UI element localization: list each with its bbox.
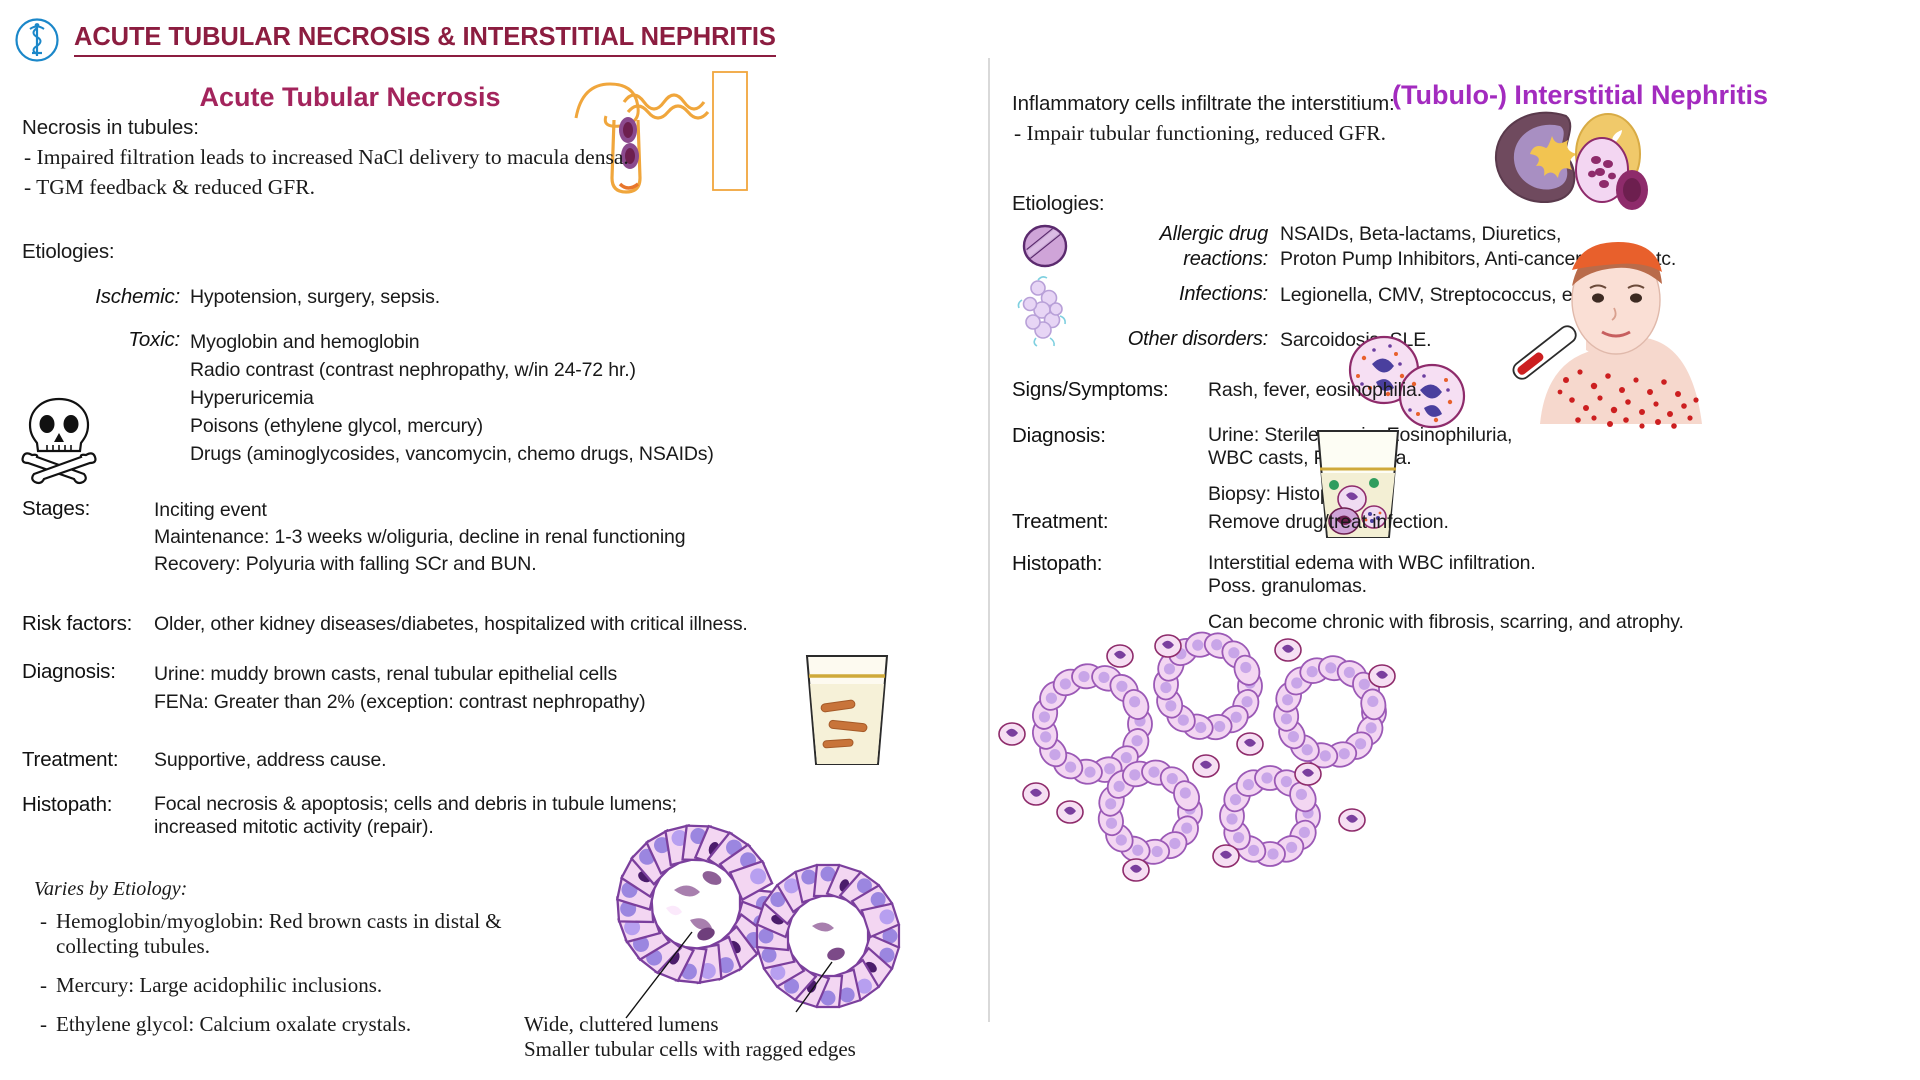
etiology-label: Ischemic: (70, 285, 180, 310)
list-item-text: Hemoglobin/myoglobin: Red brown casts in… (56, 909, 554, 959)
left-row-treatment: Treatment: Supportive, address cause. (22, 748, 386, 773)
etiology-value: Hypotension, surgery, sepsis. (190, 285, 440, 310)
left-etiology-toxic: Toxic: Myoglobin and hemoglobin Radio co… (70, 328, 714, 468)
left-row-risk-factors: Risk factors: Older, other kidney diseas… (22, 612, 748, 637)
right-row-diagnosis: Diagnosis: Urine: Sterile pyuria, Eosino… (1012, 424, 1512, 506)
varies-list: - Hemoglobin/myoglobin: Red brown casts … (34, 909, 554, 1037)
row-value: Supportive, address cause. (154, 748, 386, 773)
row-label: Diagnosis: (1012, 424, 1208, 506)
bacteria-chain-icon (1016, 278, 1080, 350)
row-value: Remove drug/treat infection. (1208, 510, 1449, 535)
right-intro-lead: Inflammatory cells infiltrate the inters… (1012, 92, 1612, 116)
histology-caption-line-1: Smaller tubular cells with ragged edges (524, 1037, 856, 1062)
row-value: Inciting event Maintenance: 1-3 weeks w/… (154, 497, 685, 578)
skull-and-crossbones-icon (20, 395, 98, 481)
left-column-title: Acute Tubular Necrosis (120, 82, 580, 113)
bullet-dash: - (34, 1012, 56, 1037)
list-item-text: Ethylene glycol: Calcium oxalate crystal… (56, 1012, 411, 1037)
urine-sample-cup-icon (795, 650, 899, 770)
row-label: Treatment: (1012, 510, 1208, 535)
etiology-label: Allergic drug reactions: (1072, 222, 1268, 272)
left-intro: Necrosis in tubules: - Impaired filtrati… (22, 116, 742, 200)
varies-by-etiology-heading: Varies by Etiology: (34, 878, 554, 901)
left-intro-lead: Necrosis in tubules: (22, 116, 742, 140)
left-etiologies-heading: Etiologies: (22, 240, 114, 264)
bullet-dash: - (34, 909, 56, 959)
column-interstitial-nephritis: (Tubulo-) Interstitial Nephritis Inflamm… (990, 0, 1920, 1080)
right-etiologies-heading: Etiologies: (1012, 192, 1104, 216)
left-etiology-ischemic: Ischemic: Hypotension, surgery, sepsis. (70, 285, 440, 310)
row-label: Histopath: (22, 793, 154, 839)
histology-caption-line-0: Wide, cluttered lumens (524, 1012, 856, 1037)
tubule-histology-illustration (596, 812, 926, 1037)
right-intro-bullet-0: - Impair tubular functioning, reduced GF… (1012, 121, 1612, 146)
left-intro-bullet-0: - Impaired filtration leads to increased… (22, 145, 742, 170)
histology-caption: Wide, cluttered lumens Smaller tubular c… (524, 1012, 856, 1062)
list-item-text: Mercury: Large acidophilic inclusions. (56, 973, 382, 998)
list-item: - Hemoglobin/myoglobin: Red brown casts … (34, 909, 554, 959)
row-value: Urine: muddy brown casts, renal tubular … (154, 660, 645, 716)
row-label: Signs/Symptoms: (1012, 378, 1208, 403)
row-label: Diagnosis: (22, 660, 154, 716)
left-row-histopath: Histopath: Focal necrosis & apoptosis; c… (22, 793, 677, 839)
left-intro-bullet-1: - TGM feedback & reduced GFR. (22, 175, 742, 200)
row-label: Risk factors: (22, 612, 154, 637)
left-row-diagnosis: Diagnosis: Urine: muddy brown casts, ren… (22, 660, 645, 716)
etiology-label: Infections: (1072, 283, 1268, 308)
pill-icon (1020, 222, 1070, 270)
row-label: Treatment: (22, 748, 154, 773)
right-row-signs-symptoms: Signs/Symptoms: Rash, fever, eosinophili… (1012, 378, 1422, 403)
list-item: - Mercury: Large acidophilic inclusions. (34, 973, 554, 998)
list-item: - Ethylene glycol: Calcium oxalate cryst… (34, 1012, 554, 1037)
etiology-label: Other disorders: (1072, 328, 1268, 353)
bullet-dash: - (34, 973, 56, 998)
right-row-treatment: Treatment: Remove drug/treat infection. (1012, 510, 1449, 535)
row-value: Older, other kidney diseases/diabetes, h… (154, 612, 748, 637)
column-acute-tubular-necrosis: Acute Tubular Necrosis Necrosis in tubul… (0, 0, 988, 1080)
varies-by-etiology-block: Varies by Etiology: - Hemoglobin/myoglob… (34, 878, 554, 1037)
left-row-stages: Stages: Inciting event Maintenance: 1-3 … (22, 497, 685, 578)
right-intro: Inflammatory cells infiltrate the inters… (1012, 92, 1612, 146)
row-label: Stages: (22, 497, 154, 578)
etiology-value: Myoglobin and hemoglobin Radio contrast … (190, 328, 714, 468)
interstitial-infiltration-histology-illustration (1000, 616, 1420, 876)
row-value: Rash, fever, eosinophilia. (1208, 378, 1422, 403)
